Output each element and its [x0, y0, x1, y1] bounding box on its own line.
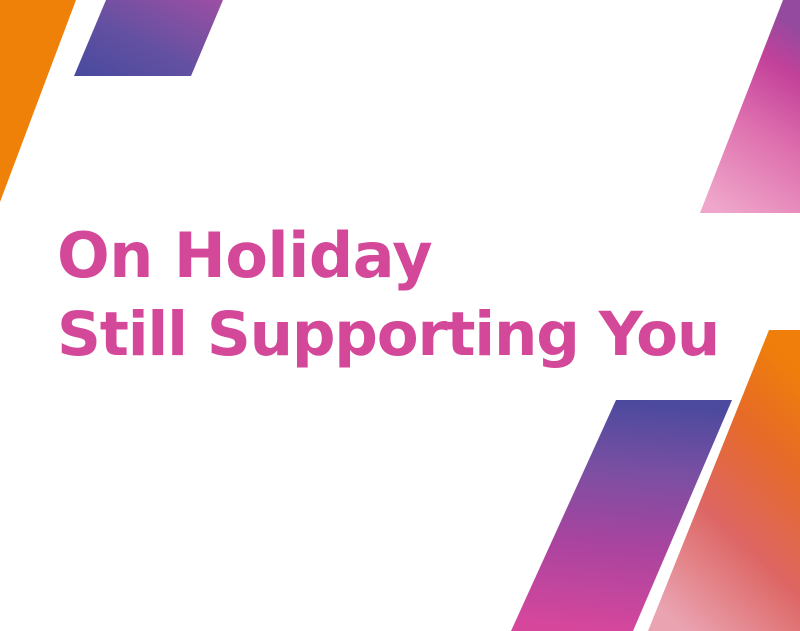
- headline-line-2: Still Supporting You: [57, 295, 787, 374]
- top-left-orange-triangle-icon: [0, 0, 76, 202]
- top-left-purple-parallelogram-icon: [74, 0, 223, 76]
- headline-line-1: On Holiday: [57, 216, 787, 295]
- top-right-pink-triangle-icon: [700, 0, 800, 213]
- headline-block: On Holiday Still Supporting You: [57, 216, 787, 374]
- banner-canvas: On Holiday Still Supporting You: [0, 0, 800, 631]
